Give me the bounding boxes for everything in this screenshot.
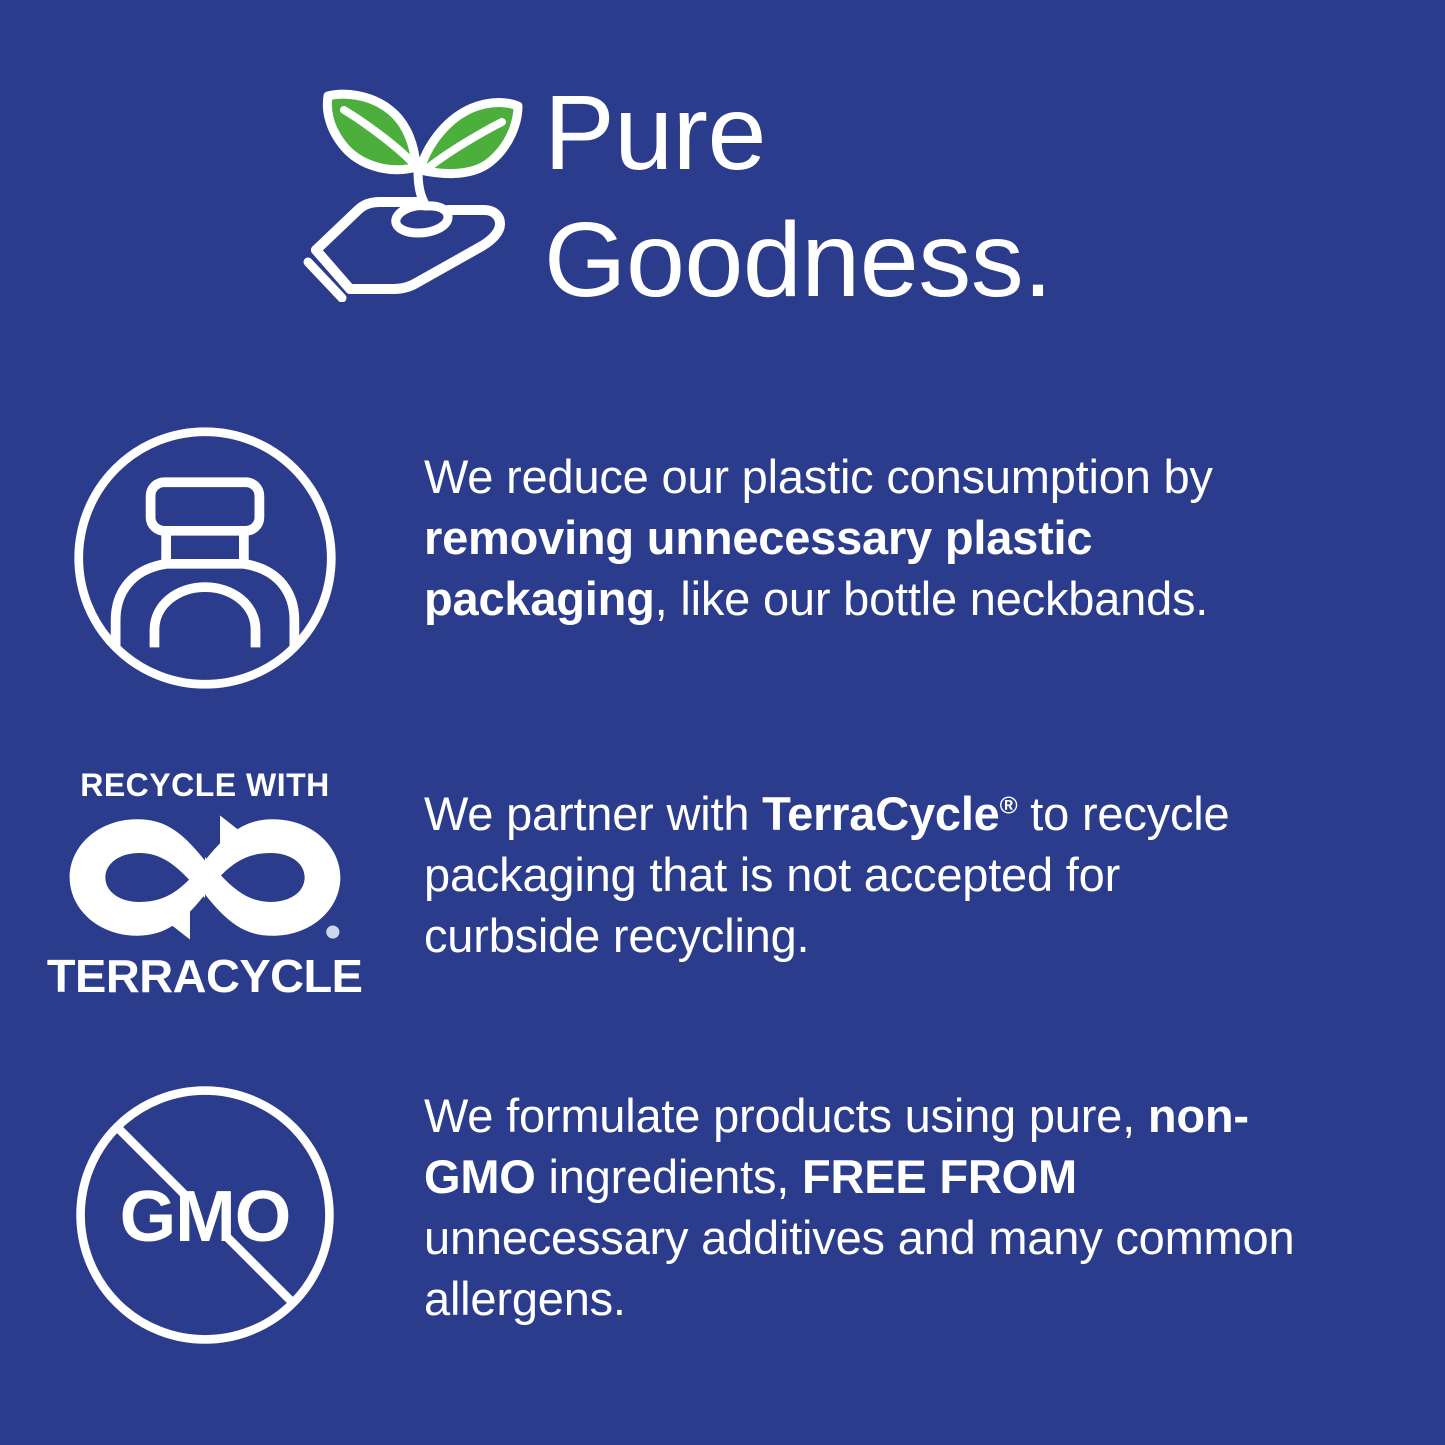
feature-text-gmo-part-2: ingredients, — [536, 1150, 802, 1203]
feature-text-gmo-part-4: unnecessary additives and many common al… — [424, 1211, 1294, 1325]
feature-text-gmo: We formulate products using pure, non-GM… — [400, 1075, 1300, 1329]
feature-text-gmo-part-0: We formulate products using pure, — [424, 1089, 1148, 1142]
feature-text-plastic-part-0: We reduce our plastic consumption by — [424, 450, 1213, 503]
feature-row-terracycle: RECYCLE WITH TERRACYCL — [0, 745, 1300, 1025]
registered-mark: ® — [1000, 792, 1018, 819]
terracycle-logo: RECYCLE WITH TERRACYCL — [60, 767, 350, 1003]
feature-text-terracycle-brand: TerraCycle — [762, 787, 1000, 840]
feature-text-plastic: We reduce our plastic consumption by rem… — [400, 418, 1300, 629]
gmo-label: GMO — [120, 1176, 291, 1257]
page-title: Pure Goodness. — [544, 70, 1052, 324]
feature-text-gmo-freefrom: FREE FROM — [802, 1150, 1077, 1203]
no-gmo-icon: GMO — [0, 1075, 400, 1355]
feature-text-plastic-part-2: , like our bottle neckbands. — [655, 572, 1209, 625]
terracycle-logo-top-text: RECYCLE WITH — [80, 767, 330, 804]
infinity-recycle-icon — [64, 810, 346, 945]
bottle-in-circle-icon — [0, 418, 400, 698]
feature-row-plastic: We reduce our plastic consumption by rem… — [0, 418, 1300, 698]
header: Pure Goodness. — [298, 70, 1358, 324]
pure-goodness-infographic: Pure Goodness. We reduce ou — [0, 0, 1445, 1445]
terracycle-logo-bottom-text: TERRACYCLE — [47, 949, 363, 1003]
feature-row-gmo: GMO We formulate products using pure, no… — [0, 1075, 1300, 1355]
feature-text-terracycle-part-0: We partner with — [424, 787, 762, 840]
hand-holding-sprout-icon — [298, 74, 526, 302]
terracycle-logo-icon: RECYCLE WITH TERRACYCL — [0, 745, 400, 1025]
feature-text-terracycle: We partner with TerraCycle® to recycle p… — [400, 745, 1300, 966]
